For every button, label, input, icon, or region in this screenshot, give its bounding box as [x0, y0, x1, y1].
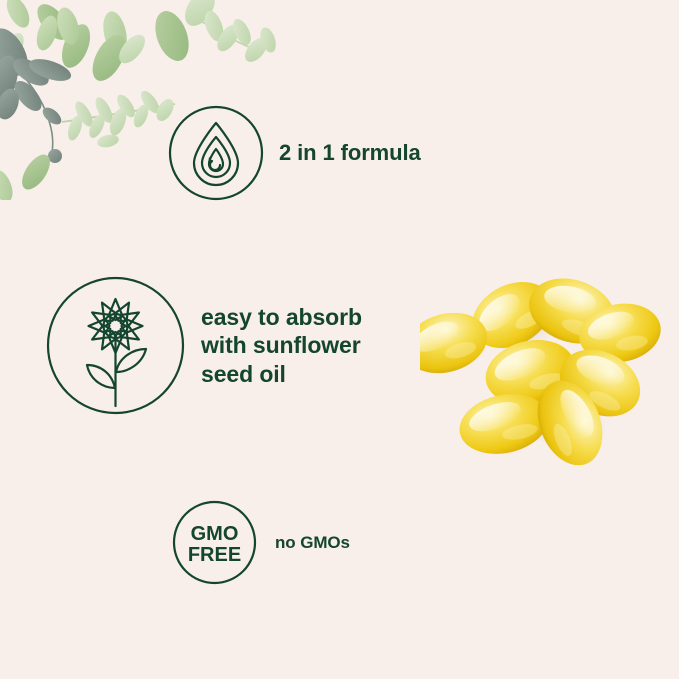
leaf-sprig-pale [62, 88, 177, 142]
feature-row-absorb: easy to absorb with sunflower seed oil [46, 276, 362, 415]
feature-label-line: 2 in 1 formula [279, 140, 421, 165]
softgel-capsules-image [420, 215, 670, 465]
feature-row-gmo: GMO FREE no GMOs [172, 500, 350, 585]
feature-label-line: easy to absorb [201, 303, 362, 331]
leaf-cluster-upper [0, 0, 195, 86]
gmo-free-badge-icon: GMO FREE [172, 500, 257, 585]
feature-label-line: no GMOs [275, 533, 350, 552]
leaf-cluster-grey-branch [0, 22, 74, 163]
water-drop-spiral-icon [168, 105, 264, 201]
gmo-badge-line-1: GMO [191, 523, 239, 545]
feature-label-gmo: no GMOs [275, 533, 350, 553]
feature-label-absorb: easy to absorb with sunflower seed oil [201, 303, 362, 387]
feature-label-line: seed oil [201, 360, 362, 388]
product-infographic: 2 in 1 formula [0, 0, 679, 679]
feature-row-formula: 2 in 1 formula [168, 105, 421, 201]
leaf-sprig-top-right [179, 0, 279, 66]
feature-label-line: with sunflower [201, 331, 362, 359]
sunflower-icon [46, 276, 185, 415]
gmo-badge-line-2: FREE [188, 544, 241, 566]
feature-label-formula: 2 in 1 formula [279, 140, 421, 166]
leaf-scattered-lower [0, 133, 120, 200]
